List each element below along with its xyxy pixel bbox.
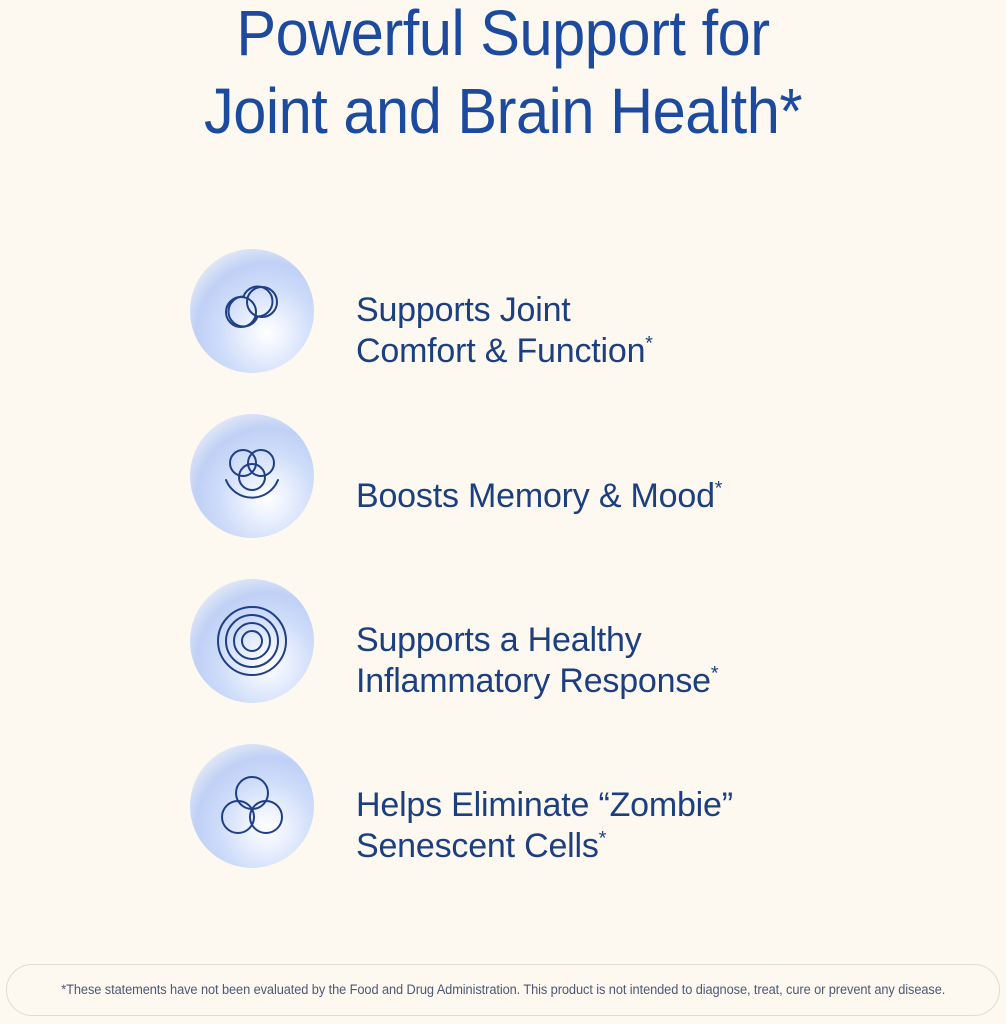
asterisk-mark: * xyxy=(715,477,722,499)
page-title: Powerful Support for Joint and Brain Hea… xyxy=(35,0,971,150)
benefit-item-inflammatory-response: Supports a Healthy Inflammatory Response… xyxy=(0,558,1006,723)
benefit-label: Supports Joint Comfort & Function* xyxy=(356,249,653,372)
benefit-label: Supports a Healthy Inflammatory Response… xyxy=(356,579,718,702)
benefit-label-text: Helps Eliminate “Zombie” Senescent Cells xyxy=(356,786,733,865)
disclaimer-box: *These statements have not been evaluate… xyxy=(6,964,1000,1016)
benefit-item-joint-comfort: Supports Joint Comfort & Function* xyxy=(0,228,1006,393)
benefit-label: Helps Eliminate “Zombie” Senescent Cells… xyxy=(356,744,733,867)
benefit-label: Boosts Memory & Mood* xyxy=(356,435,722,517)
benefit-item-memory-mood: Boosts Memory & Mood* xyxy=(0,393,1006,558)
benefit-label-text: Supports a Healthy Inflammatory Response xyxy=(356,621,711,700)
benefit-label-text: Supports Joint Comfort & Function xyxy=(356,291,645,370)
two-merged-circles-icon xyxy=(190,249,314,373)
benefit-label-text: Boosts Memory & Mood xyxy=(356,477,715,515)
three-circles-cluster-icon xyxy=(190,744,314,868)
asterisk-mark: * xyxy=(599,828,606,850)
asterisk-mark: * xyxy=(645,333,652,355)
concentric-rings-icon xyxy=(190,579,314,703)
benefits-list: Supports Joint Comfort & Function* Boost… xyxy=(0,228,1006,888)
disclaimer-text: *These statements have not been evaluate… xyxy=(61,982,945,998)
asterisk-mark: * xyxy=(711,663,718,685)
benefit-item-senescent-cells: Helps Eliminate “Zombie” Senescent Cells… xyxy=(0,723,1006,888)
venn-circles-smile-icon xyxy=(190,414,314,538)
